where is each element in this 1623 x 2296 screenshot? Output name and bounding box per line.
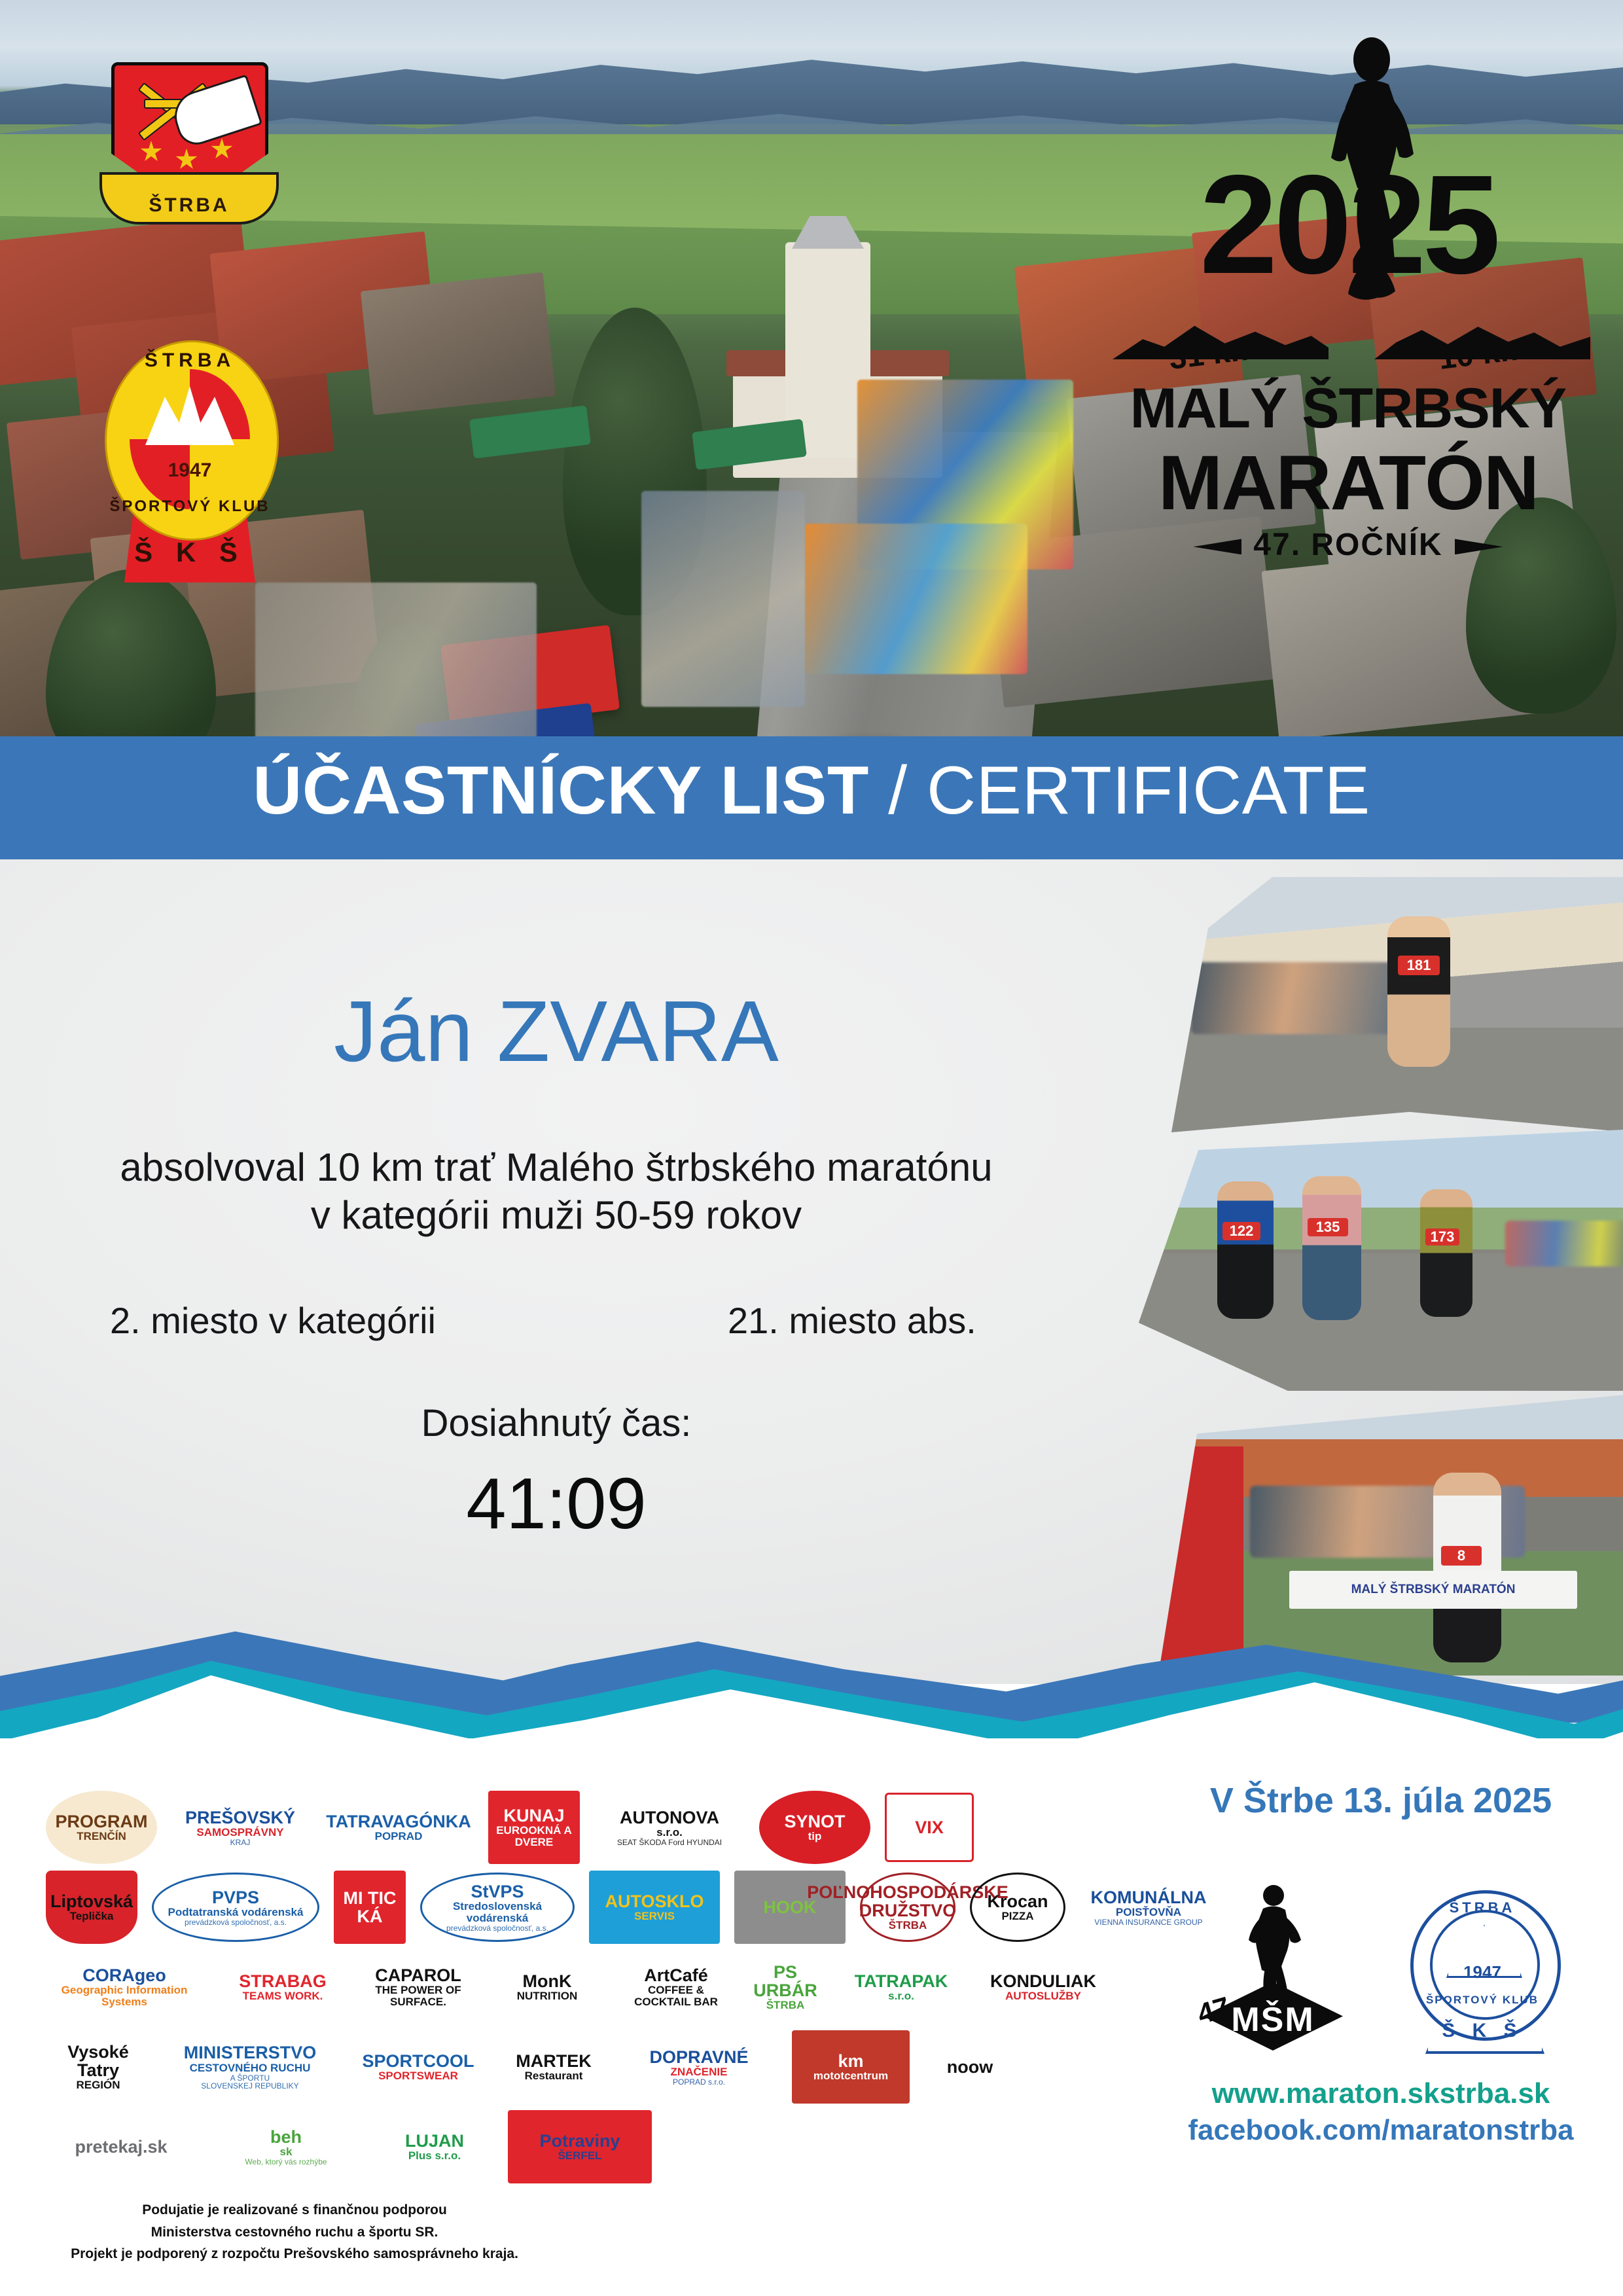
sponsor-logo-line: s.r.o. <box>855 1990 948 2002</box>
sponsor-logo: PotravinyŠERFEL <box>508 2110 652 2183</box>
certificate-content: Ján ZVARA absolvoval 10 km trať Malého š… <box>0 982 1113 1545</box>
event-year-label: 2025 <box>1106 154 1590 295</box>
sponsor-logo-line: Stredoslovenská vodárenská <box>422 1901 573 1924</box>
sponsor-logo: POĽNOHOSPODÁRSKE DRUŽSTVOŠTRBA <box>860 1873 955 1942</box>
sponsor-logo-line: CORAgeo <box>46 1966 203 1984</box>
sponsor-row: CORAgeoGeographic Information SystemsSTR… <box>46 1952 1132 2022</box>
sponsor-logo-line: DOPRAVNÉ <box>649 2048 748 2066</box>
crest-banner: ŠTRBA <box>99 172 279 224</box>
sponsor-logo-line: ŠTRBA <box>746 2000 825 2011</box>
sponsor-logo: pretekaj.sk <box>46 2114 196 2179</box>
sponsor-logo: noow <box>924 2034 1016 2100</box>
event-edition-label: 47. ROČNÍK <box>1253 528 1442 562</box>
runner-bib: 181 <box>1398 956 1440 975</box>
photo-finish-female-runner: 181 <box>1171 877 1623 1132</box>
road <box>1139 1253 1623 1391</box>
sponsor-logo-line: KUNAJ <box>495 1806 573 1825</box>
photo-finish-male-runner: 8 MALÝ ŠTRBSKÝ MARATÓN <box>1158 1388 1623 1676</box>
arrow-right-icon <box>1455 539 1503 554</box>
sponsor-logo-line: AUTOSKLO <box>605 1892 704 1910</box>
sponsor-logo-line: Potraviny <box>539 2132 620 2150</box>
sponsor-logo-line: beh <box>245 2128 327 2146</box>
footer: PROGRAMTRENČÍNPREŠOVSKÝSAMOSPRÁVNYKRAJTA… <box>0 1741 1623 2296</box>
sponsor-logo: KONDULIAKAUTOSLUŽBY <box>978 1954 1109 2020</box>
runner-crowd <box>805 524 1027 674</box>
sponsor-logo: MARTEKRestaurant <box>501 2034 606 2100</box>
support-line1: Podujatie je realizované s finančnou pod… <box>26 2199 563 2221</box>
support-notice: Podujatie je realizované s finančnou pod… <box>26 2199 563 2265</box>
club-top-label: ŠTRBA <box>98 350 281 372</box>
sponsor-logo-line: LUJAN <box>405 2132 464 2150</box>
sponsor-logo-line: CAPAROL <box>363 1966 474 1984</box>
sponsor-logo: PS URBÁRŠTRBA <box>746 1954 825 2020</box>
place-absolute-label: 21. miesto abs. <box>728 1299 976 1342</box>
sponsor-logo-line: ZNAČENIE <box>649 2066 748 2078</box>
sponsor-logo: KrocanPIZZA <box>970 1873 1065 1942</box>
sponsor-logo-line: AUTONOVA <box>617 1808 722 1827</box>
time-label: Dosiahnutý čas: <box>0 1401 1113 1445</box>
strba-coat-of-arms-icon: ŠTRBA <box>111 62 262 245</box>
event-logo-block: 2025 31 km 10 km MALÝ ŠTRBSKÝ MARATÓN 47… <box>1106 36 1590 599</box>
sponsor-logo-line: prevádzková spoločnosť, a.s. <box>168 1918 304 1927</box>
sponsor-logo-line: SERVIS <box>605 1910 704 1922</box>
sponsor-logo-line: sk <box>245 2146 327 2158</box>
sponsor-logo-line: POPRAD <box>326 1831 471 1842</box>
sponsor-logo-line: REGIÓN <box>46 2079 151 2091</box>
sponsor-logo-line: SPORTSWEAR <box>362 2070 474 2082</box>
distance-row: 31 km 10 km <box>1106 298 1590 376</box>
support-line2: Ministerstva cestovného ruchu a športu S… <box>26 2221 563 2244</box>
sponsor-logo-line: PROGRAM <box>56 1812 148 1831</box>
runner-bib: 122 <box>1222 1222 1260 1240</box>
sponsor-logo-line: MI TIC KÁ <box>340 1889 399 1926</box>
sponsor-logo: PROGRAMTRENČÍN <box>46 1791 157 1864</box>
sponsor-logo-line: km <box>813 2052 888 2070</box>
sponsor-logo: TATRAPAKs.r.o. <box>839 1954 963 2020</box>
sponsor-row: Vysoké TatryREGIÓNMINISTERSTVOCESTOVNÉHO… <box>46 2032 1132 2102</box>
sponsor-logo: DOPRAVNÉZNAČENIEPOPRAD s.r.o. <box>620 2034 777 2100</box>
runner-bib: 173 <box>1425 1229 1459 1246</box>
sponsor-row: pretekaj.skbehskWeb, ktorý vás rozhýbeLU… <box>46 2111 1132 2182</box>
sponsor-logo-line: Teplička <box>50 1910 133 1922</box>
sponsor-logo-line: VIX <box>915 1818 944 1837</box>
sponsor-logo-line: tip <box>784 1831 845 1842</box>
description-line1: absolvoval 10 km trať Malého štrbského m… <box>0 1143 1113 1191</box>
sponsor-logo-line: ArtCafé <box>620 1966 732 1984</box>
sponsor-logo: behskWeb, ktorý vás rozhýbe <box>211 2114 361 2179</box>
sponsor-logo-line: PIZZA <box>987 1910 1048 1922</box>
sponsor-logo: VIX <box>885 1793 974 1862</box>
runner-figure <box>1217 1181 1274 1319</box>
certificate-title-band: ÚČASTNÍCKY LIST / CERTIFICATE <box>0 736 1623 861</box>
sponsor-logo-line: ŠERFEL <box>539 2150 620 2162</box>
photo-runners-on-road: 122 135 173 <box>1139 1129 1623 1391</box>
spectators <box>1191 962 1407 1034</box>
club-abbrev-label: Š K Š <box>98 537 281 568</box>
male-runner-figure <box>1433 1473 1501 1662</box>
sponsor-logo-line: Krocan <box>987 1892 1048 1910</box>
sponsor-logo-line: StVPS <box>422 1882 573 1901</box>
roof-tile <box>361 272 556 415</box>
sponsor-logo: LUJANPlus s.r.o. <box>376 2114 493 2179</box>
sponsor-logo-line: EUROOKNÁ A DVERE <box>495 1825 573 1848</box>
certificate-page: ŠTART ŠTRBA ŠTRBA 1947 ŠPORTOVÝ KLUB Š K… <box>0 0 1623 2296</box>
finish-banner-caption: MALÝ ŠTRBSKÝ MARATÓN <box>1289 1571 1577 1609</box>
page-title: ÚČASTNÍCKY LIST / CERTIFICATE <box>0 752 1623 830</box>
sponsor-logo-line: Liptovská <box>50 1892 133 1910</box>
description-line2: v kategórii muži 50-59 rokov <box>0 1191 1113 1239</box>
sponsor-logo: PVPSPodtatranská vodárenskáprevádzková s… <box>152 1873 319 1942</box>
sponsor-logo: TATRAVAGÓNKAPOPRAD <box>323 1795 474 1860</box>
sponsor-logo-line: Vysoké Tatry <box>46 2043 151 2080</box>
sponsor-logo: CORAgeoGeographic Information Systems <box>46 1954 203 2020</box>
sponsor-logo: AUTOSKLOSERVIS <box>589 1871 720 1944</box>
place-category-label: 2. miesto v kategórii <box>110 1299 436 1342</box>
sponsor-logo-line: prevádzková spoločnosť, a.s. <box>422 1924 573 1933</box>
sponsor-logo: STRABAGTEAMS WORK. <box>217 1954 348 2020</box>
sks-club-emblem-icon: ŠTRBA 1947 ŠPORTOVÝ KLUB Š K Š <box>98 321 281 583</box>
title-en: CERTIFICATE <box>927 753 1370 829</box>
sponsor-logo: Vysoké TatryREGIÓN <box>46 2034 151 2100</box>
sponsor-logo-line: mototcentrum <box>813 2070 888 2082</box>
sponsor-logo-line: AUTOSLUŽBY <box>990 1990 1096 2002</box>
sponsor-logo-line: THE POWER OF SURFACE. <box>363 1984 474 2008</box>
sponsor-logo-line: TEAMS WORK. <box>239 1990 327 2002</box>
runner-figure <box>1302 1176 1361 1320</box>
sponsor-logo-line: Web, ktorý vás rozhýbe <box>245 2158 327 2166</box>
sponsor-logo-line: s.r.o. <box>617 1827 722 1839</box>
runner-figure <box>1420 1189 1472 1317</box>
certificate-description: absolvoval 10 km trať Malého štrbského m… <box>0 1143 1113 1239</box>
sponsor-logo: SYNOTtip <box>759 1791 870 1864</box>
sponsor-logo-line: Restaurant <box>516 2070 592 2082</box>
sponsor-logo-line: Podtatranská vodárenská <box>168 1907 304 1918</box>
photo-collage: 181 122 135 173 8 MALÝ ŠTRBSKÝ MARATÓN <box>1099 870 1623 1682</box>
runner-pack <box>1505 1221 1623 1266</box>
sks-stamp-icon: ŠTRBA 1947 ŠPORTOVÝ KLUB Š K Š <box>1400 1884 1564 2054</box>
sponsor-logo-line: Plus s.r.o. <box>405 2150 464 2162</box>
club-name-label: ŠPORTOVÝ KLUB <box>98 497 281 516</box>
msm-letters: MŠM <box>1203 2000 1343 2039</box>
sponsor-logo-line: SYNOT <box>784 1812 845 1831</box>
arrow-left-icon <box>1193 539 1241 554</box>
placements-row: 2. miesto v kategórii 21. miesto abs. <box>0 1299 1113 1345</box>
sponsor-logo: MI TIC KÁ <box>334 1871 406 1944</box>
distance-right-label: 10 km <box>1436 331 1529 377</box>
sponsor-logo: CAPAROLTHE POWER OF SURFACE. <box>363 1954 474 2020</box>
sponsor-row: PROGRAMTRENČÍNPREŠOVSKÝSAMOSPRÁVNYKRAJTA… <box>46 1792 1132 1863</box>
banner-red <box>1158 1446 1243 1676</box>
sponsor-logo-line: TATRAVAGÓNKA <box>326 1812 471 1831</box>
sponsor-logo-line: TRENČÍN <box>56 1831 148 1842</box>
sponsor-logo: PREŠOVSKÝSAMOSPRÁVNYKRAJ <box>171 1795 309 1860</box>
stamp-top-label: ŠTRBA <box>1400 1899 1564 1916</box>
website-link[interactable]: www.maraton.skstrba.sk <box>1152 2077 1610 2110</box>
sponsor-logo: kmmototcentrum <box>792 2030 910 2104</box>
sponsor-logo-line: CESTOVNÉHO RUCHU <box>184 2062 317 2074</box>
msm-mark-icon: 47. MŠM <box>1198 1884 1348 2054</box>
sponsor-logo-line: PREŠOVSKÝ <box>185 1808 295 1827</box>
facebook-link[interactable]: facebook.com/maratonstrba <box>1152 2114 1610 2147</box>
sponsor-logo: LiptovskáTeplička <box>46 1871 137 1944</box>
sponsor-logo: AUTONOVAs.r.o.SEAT ŠKODA Ford HYUNDAI <box>594 1795 745 1860</box>
sponsor-logo-line: MonK <box>517 1972 578 1990</box>
sponsor-logo-line: PVPS <box>168 1888 304 1907</box>
sponsor-logo-line: NUTRITION <box>517 1990 578 2002</box>
club-year-label: 1947 <box>98 459 281 482</box>
event-edition-row: 47. ROČNÍK <box>1106 527 1590 563</box>
title-sk: ÚČASTNÍCKY LIST <box>253 753 869 829</box>
footer-right-column: V Štrbe 13. júla 2025 <box>1152 1780 1610 2147</box>
sponsor-logo-line: COFFEE & COCKTAIL BAR <box>620 1984 732 2008</box>
athlete-name: Ján ZVARA <box>0 982 1113 1081</box>
sponsor-logo: KUNAJEUROOKNÁ A DVERE <box>488 1791 580 1864</box>
sponsor-logo: SPORTCOOLSPORTSWEAR <box>349 2034 487 2100</box>
stamp-bottom-label: Š K Š <box>1400 2020 1564 2042</box>
sponsor-logo-line: SLOVENSKEJ REPUBLIKY <box>184 2082 317 2090</box>
event-date-label: V Štrbe 13. júla 2025 <box>1152 1780 1610 1821</box>
stamp-mid-label: ŠPORTOVÝ KLUB <box>1400 1994 1564 2007</box>
sponsor-logo: StVPSStredoslovenská vodárenskáprevádzko… <box>420 1873 575 1942</box>
support-line3: Projekt je podporený z rozpočtu Prešovsk… <box>26 2243 563 2265</box>
sponsor-logo-line: noow <box>947 2058 993 2076</box>
sponsor-logo-line: KRAJ <box>185 1839 295 1847</box>
sponsor-logo-line: KONDULIAK <box>990 1972 1096 1990</box>
footer-marks: 47. MŠM ŠTRBA 1947 ŠPORTOVÝ KLUB Š K Š <box>1152 1877 1610 2060</box>
sponsor-logo-line: POPRAD s.r.o. <box>649 2078 748 2087</box>
crest-town-label: ŠTRBA <box>102 194 276 217</box>
time-value: 41:09 <box>0 1462 1113 1545</box>
stamp-year-label: 1947 <box>1400 1962 1564 1982</box>
sponsor-logo-line: SEAT ŠKODA Ford HYUNDAI <box>617 1839 722 1847</box>
event-name-line2: MARATÓN <box>1106 439 1590 528</box>
sponsor-logo: ArtCaféCOFFEE & COCKTAIL BAR <box>620 1954 732 2020</box>
runner-bib: 8 <box>1441 1546 1482 1566</box>
sponsor-logo-line: Geographic Information Systems <box>46 1984 203 2008</box>
spectator-crowd <box>255 583 537 753</box>
runner-bib: 135 <box>1308 1218 1348 1236</box>
sponsor-logo-line: STRABAG <box>239 1972 327 1990</box>
sponsor-logo-line: MINISTERSTVO <box>184 2043 317 2062</box>
sponsor-grid: PROGRAMTRENČÍNPREŠOVSKÝSAMOSPRÁVNYKRAJTA… <box>46 1792 1132 2191</box>
title-separator: / <box>869 753 927 829</box>
spectator-crowd <box>641 491 805 707</box>
sponsor-logo-line: SAMOSPRÁVNY <box>185 1827 295 1839</box>
sponsor-logo-line: TATRAPAK <box>855 1972 948 1990</box>
event-name-line1: MALÝ ŠTRBSKÝ <box>1106 376 1590 441</box>
sponsor-logo-line: SPORTCOOL <box>362 2052 474 2070</box>
sponsor-logo: MonKNUTRITION <box>488 1954 606 2020</box>
sponsor-logo-line: MARTEK <box>516 2052 592 2070</box>
sponsor-logo-line: PS URBÁR <box>746 1963 825 2000</box>
sponsor-logo-line: pretekaj.sk <box>75 2138 167 2156</box>
female-runner-figure <box>1387 916 1450 1067</box>
sponsor-row: LiptovskáTepličkaPVPSPodtatranská vodáre… <box>46 1872 1132 1943</box>
sponsor-logo: MINISTERSTVOCESTOVNÉHO RUCHUA ŠPORTUSLOV… <box>165 2034 335 2100</box>
